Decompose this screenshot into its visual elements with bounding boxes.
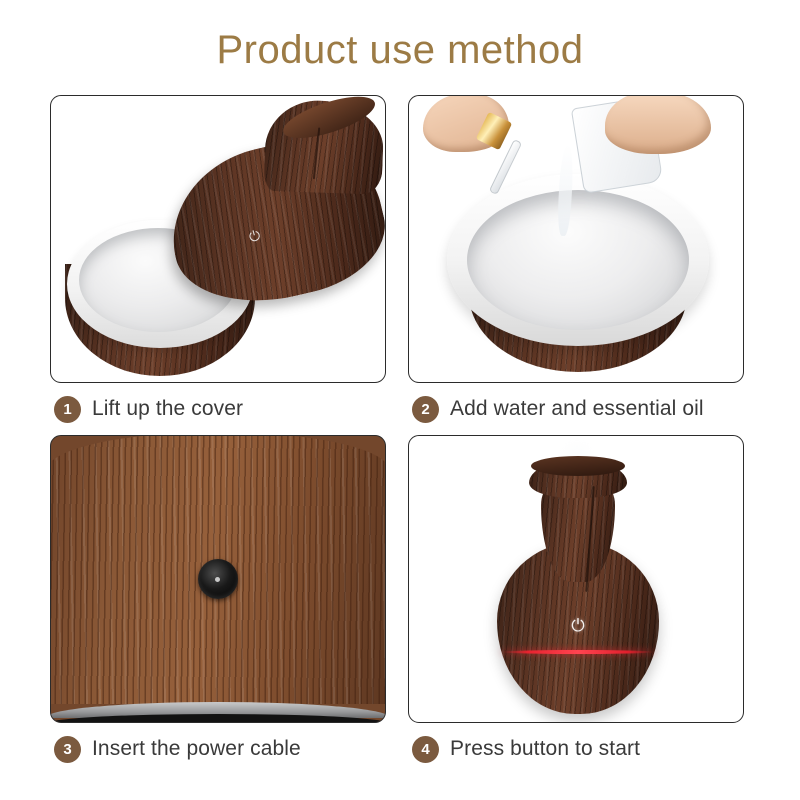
step-badge-2: 2	[412, 396, 439, 423]
step-1-image-panel: ⏻	[50, 95, 386, 383]
bowl-inner-basin	[467, 190, 689, 330]
product-infographic: Product use method ⏻	[0, 0, 800, 800]
power-button-icon: ⏻	[571, 616, 584, 636]
vase-cover: ⏻	[162, 97, 386, 312]
step-4-image-panel: ⏻	[408, 435, 744, 723]
step-badge-4: 4	[412, 736, 439, 763]
step-caption-text-1: Lift up the cover	[92, 397, 243, 421]
step-badge-3: 3	[54, 736, 81, 763]
step-caption-text-4: Press button to start	[450, 737, 640, 761]
dc-power-port	[198, 559, 238, 599]
assembled-diffuser: ⏻	[497, 454, 659, 714]
step-badge-1: 1	[54, 396, 81, 423]
vase-lip	[531, 456, 625, 476]
red-led-ring	[500, 650, 656, 654]
step-1-caption: 1 Lift up the cover	[50, 383, 386, 435]
step-caption-text-2: Add water and essential oil	[450, 397, 704, 421]
step-caption-text-3: Insert the power cable	[92, 737, 301, 761]
hand-holding-cup	[605, 95, 711, 154]
step-3-image-panel	[50, 435, 386, 723]
step-2-caption: 2 Add water and essential oil	[408, 383, 744, 435]
steps-grid: ⏻ 1 Lift up the cover 2 Add water and es…	[50, 95, 750, 745]
open-bowl-assembly	[447, 174, 709, 372]
step-2-image-panel	[408, 95, 744, 383]
power-port-pin	[215, 577, 220, 582]
page-title: Product use method	[0, 28, 800, 73]
step-4-caption: 4 Press button to start	[408, 723, 744, 775]
step-3-caption: 3 Insert the power cable	[50, 723, 386, 775]
